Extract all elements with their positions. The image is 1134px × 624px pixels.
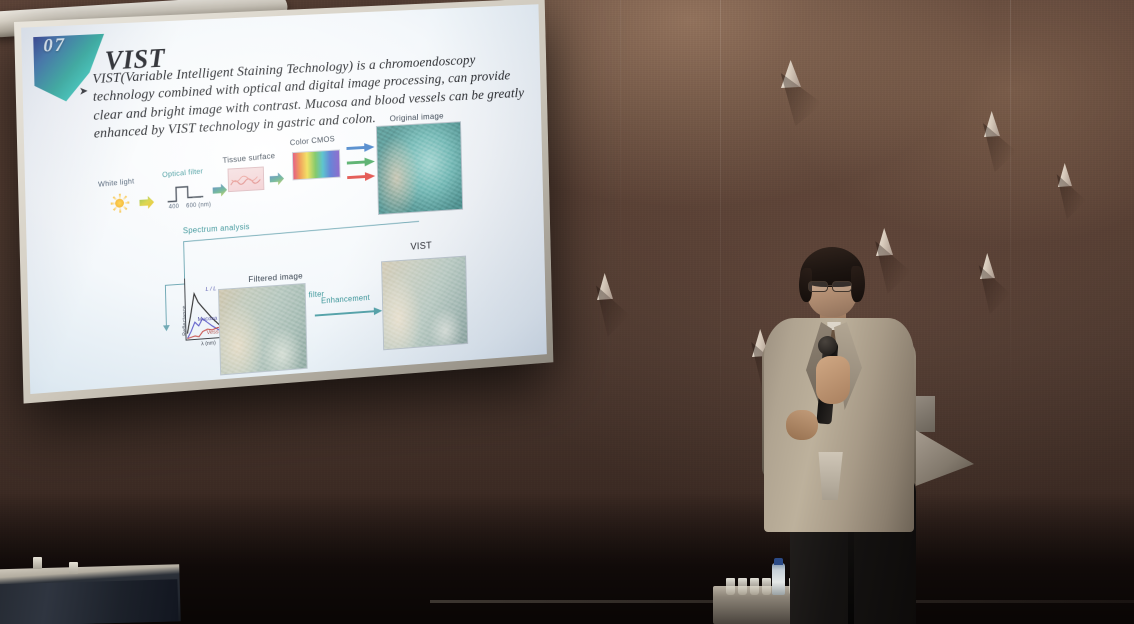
slide-surface: 07 VIST ➤ VIST(Variable Intelligent Stai… <box>21 4 547 394</box>
label-white-light: White light <box>98 176 135 188</box>
chart-legend-ll: L / L <box>205 286 216 293</box>
thumbnail-original-image <box>376 121 463 215</box>
wall-wedge-fixture <box>781 60 801 88</box>
bullet-arrow-icon: ➤ <box>79 84 88 97</box>
tissue-swatch-icon <box>228 166 265 192</box>
label-vist-output: VIST <box>410 241 432 253</box>
thumbnail-filtered-image <box>218 283 308 375</box>
channel-arrow-red-icon <box>347 173 375 181</box>
square-pulse-icon <box>166 183 205 204</box>
speaker-eyeglass-right <box>832 281 852 292</box>
wall-wedge-fixture <box>980 253 995 279</box>
speaker-hand-holding-mic <box>816 356 850 404</box>
speaker-hand-left <box>786 410 818 440</box>
label-optical-filter: Optical filter <box>162 166 203 179</box>
channel-arrow-blue-icon <box>346 144 374 152</box>
label-enhancement: Enhancement <box>321 293 370 305</box>
sun-icon <box>110 193 129 213</box>
flow-arrow-icon <box>270 172 285 186</box>
channel-arrow-green-icon <box>347 158 375 166</box>
label-spectrum-analysis: Spectrum analysis <box>183 222 250 235</box>
slide-number: 07 <box>43 35 66 58</box>
filter-tick-low: 400 <box>169 204 180 211</box>
filter-tick-high: 600 (nm) <box>186 202 211 209</box>
wall-wedge-fixture <box>876 228 893 256</box>
paper-cup <box>69 562 78 574</box>
flow-arrow-icon <box>213 183 228 197</box>
water-bottle-cap <box>774 558 783 565</box>
paper-cup <box>33 557 42 569</box>
wall-wedge-fixture <box>984 111 1000 137</box>
wall-seam <box>1010 0 1011 400</box>
foreground-table-skirt <box>0 579 179 624</box>
label-filtered-image: Filtered image <box>248 271 303 284</box>
flow-arrow-icon <box>139 196 154 210</box>
speaker-hair-side-right <box>851 266 865 302</box>
wall-seam <box>620 0 621 300</box>
wall-wedge-fixture <box>1058 163 1072 187</box>
label-tissue-surface: Tissue surface <box>222 151 275 165</box>
speaker-eyeglass-bridge <box>828 285 833 286</box>
rainbow-sensor-icon <box>292 149 341 180</box>
wall-seam <box>720 0 721 430</box>
water-bottle <box>772 563 785 595</box>
slide-title: VIST <box>104 43 165 77</box>
projection-screen: 07 VIST ➤ VIST(Variable Intelligent Stai… <box>14 0 553 404</box>
label-color-cmos: Color CMOS <box>290 134 336 147</box>
feedback-arrowhead-icon <box>163 325 170 331</box>
arrow-enhancement <box>315 307 383 320</box>
feedback-line-down <box>165 285 167 328</box>
screen-frame: 07 VIST ➤ VIST(Variable Intelligent Stai… <box>14 0 553 404</box>
wall-wedge-fixture <box>597 273 613 300</box>
speaker-eyeglass-left <box>808 281 828 292</box>
thumbnail-vist-image <box>381 256 468 351</box>
presentation-photo: 07 VIST ➤ VIST(Variable Intelligent Stai… <box>0 0 1134 624</box>
